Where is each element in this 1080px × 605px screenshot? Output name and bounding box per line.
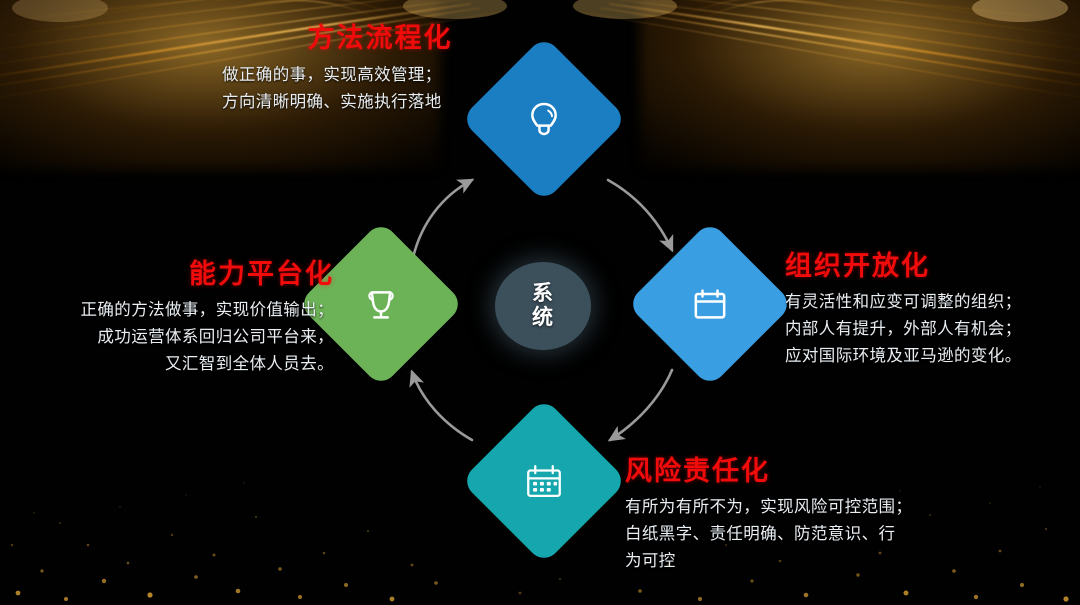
section-left-title: 能力平台化 — [24, 258, 334, 290]
calendar-icon — [682, 276, 738, 332]
arrow-bottom-to-left — [412, 372, 472, 440]
arrow-right-to-bottom — [610, 370, 672, 440]
section-top-body: 做正确的事，实现高效管理； 方向清晰明确、实施执行落地 — [222, 62, 538, 115]
section-top-title: 方法流程化 — [222, 22, 538, 54]
center-node-system[interactable]: 系 统 — [495, 262, 591, 350]
section-right-line-2: 内部人有提升，外部人有机会； — [785, 316, 1022, 343]
arrow-left-to-top — [412, 180, 472, 262]
section-bottom-line-2: 白纸黑字、责任明确、防范意识、行 — [625, 521, 912, 548]
section-top: 方法流程化 做正确的事，实现高效管理； 方向清晰明确、实施执行落地 — [222, 22, 538, 116]
section-left-line-1: 正确的方法做事，实现价值输出； — [24, 297, 334, 324]
section-left-line-2: 成功运营体系回归公司平台来， — [24, 324, 334, 351]
section-right: 组织开放化 有灵活性和应变可调整的组织； 内部人有提升，外部人有机会； 应对国际… — [785, 250, 1022, 370]
section-bottom: 风险责任化 有所为有所不为，实现风险可控范围； 白纸黑字、责任明确、防范意识、行… — [625, 455, 912, 575]
section-right-line-3: 应对国际环境及亚马逊的变化。 — [785, 343, 1022, 370]
arrow-top-to-right — [608, 180, 672, 250]
section-right-title: 组织开放化 — [785, 250, 1022, 282]
section-bottom-title: 风险责任化 — [625, 455, 912, 487]
section-right-body: 有灵活性和应变可调整的组织； 内部人有提升，外部人有机会； 应对国际环境及亚马逊… — [785, 289, 1022, 369]
section-bottom-line-3: 为可控 — [625, 548, 912, 575]
center-node-label: 系 统 — [532, 282, 554, 329]
slide-canvas: 系 统 方法流程化 做正确的事，实现高效管理； 方向清晰明确、实施执行落地 组织… — [0, 0, 1080, 605]
section-top-line-2: 方向清晰明确、实施执行落地 — [222, 89, 538, 116]
section-left: 能力平台化 正确的方法做事，实现价值输出； 成功运营体系回归公司平台来， 又汇智… — [24, 258, 334, 378]
calendar-grid-icon — [516, 453, 572, 509]
section-bottom-line-1: 有所为有所不为，实现风险可控范围； — [625, 494, 912, 521]
section-left-body: 正确的方法做事，实现价值输出； 成功运营体系回归公司平台来， 又汇智到全体人员去… — [24, 297, 334, 377]
trophy-icon — [353, 276, 409, 332]
section-bottom-body: 有所为有所不为，实现风险可控范围； 白纸黑字、责任明确、防范意识、行 为可控 — [625, 494, 912, 574]
section-right-line-1: 有灵活性和应变可调整的组织； — [785, 289, 1022, 316]
section-top-line-1: 做正确的事，实现高效管理； — [222, 62, 538, 89]
section-left-line-3: 又汇智到全体人员去。 — [24, 351, 334, 378]
